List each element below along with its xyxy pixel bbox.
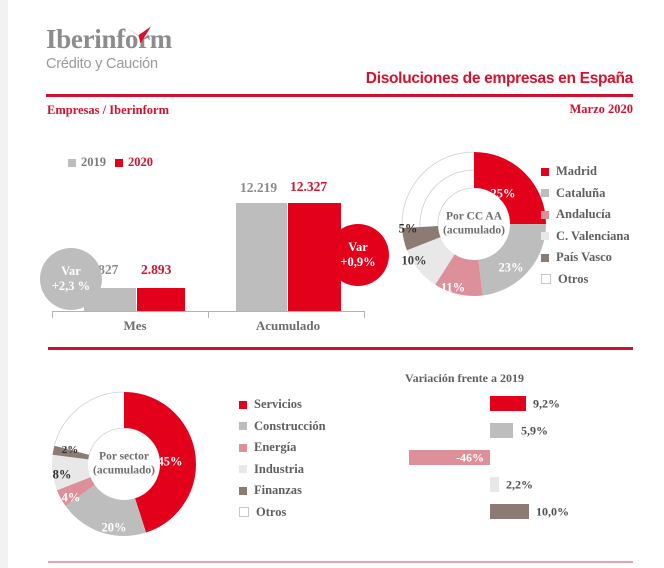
variation-badge-mes-line2: +2,3 % <box>52 279 90 294</box>
legend-label-otros-ccaa: Otros <box>558 272 588 287</box>
donut-ccaa-label-cataluna: 23% <box>499 261 524 276</box>
variation-bar-energia: -46% <box>409 450 490 465</box>
bar-value-mes-2020: 2.893 <box>141 262 171 278</box>
legend-label-cataluna: Cataluña <box>556 186 605 201</box>
category-label-mes: Mes <box>90 318 180 334</box>
legend-label-andalucia: Andalucía <box>556 207 611 222</box>
legend-item-otros-ccaa: Otros <box>541 273 630 286</box>
legend-swatch-otros-sector <box>239 507 249 517</box>
bar-value-acumulado-2019: 12.219 <box>240 180 277 196</box>
report-date: Marzo 2020 <box>569 102 633 117</box>
legend-label-c-valenciana: C. Valenciana <box>556 229 630 244</box>
legend-swatch-construccion <box>239 422 247 430</box>
legend-item-otros-sector: Otros <box>239 506 326 519</box>
donut-ccaa-label-madrid: 25% <box>491 187 516 202</box>
legend-item-cataluna: Cataluña <box>541 187 630 200</box>
page-title: Disoluciones de empresas en España <box>366 70 633 88</box>
donut-sector-label-finanzas: 2% <box>62 444 79 456</box>
donut-sector-center-line1: Por sector <box>93 450 155 464</box>
donut-sector-center-label: Por sector (acumulado) <box>93 450 155 479</box>
variation-value-construccion: 5,9% <box>521 424 548 439</box>
legend-swatch-madrid <box>541 168 549 176</box>
variation-badge-acumulado-line2: +0,9% <box>340 255 375 270</box>
legend-ccaa: Madrid Cataluña Andalucía C. Valenciana … <box>541 165 630 294</box>
legend-label-madrid: Madrid <box>556 164 597 179</box>
legend-swatch-finanzas <box>239 487 247 495</box>
legend-item-madrid: Madrid <box>541 165 630 178</box>
legend-item-servicios: Servicios <box>239 398 326 411</box>
donut-sector-label-industria: 8% <box>53 468 72 483</box>
infographic-page: Iberinform Crédito y Caución Disolucione… <box>0 0 664 568</box>
legend-swatch-c-valenciana <box>541 232 549 240</box>
legend-label-finanzas: Finanzas <box>254 483 302 498</box>
donut-ccaa-label-c-valenciana: 10% <box>402 254 427 269</box>
donut-ccaa-label-andalucia: 11% <box>441 281 465 296</box>
donut-sector-label-construccion: 20% <box>102 521 127 536</box>
variation-bar-servicios <box>490 396 526 411</box>
legend-label-construccion: Construcción <box>254 419 326 434</box>
legend-swatch-energia <box>239 444 247 452</box>
donut-sector-label-servicios: 45% <box>158 455 183 470</box>
axis-tick-start <box>52 312 53 318</box>
legend-swatch-cataluna <box>541 189 549 197</box>
donut-sector-label-energia: 4% <box>62 491 81 506</box>
legend-swatch-servicios <box>239 401 247 409</box>
legend-swatch-industria <box>239 465 247 473</box>
variation-value-servicios: 9,2% <box>533 397 560 412</box>
variation-badge-acumulado: Var +0,9% <box>327 224 389 286</box>
legend-swatch-andalucia <box>541 211 549 219</box>
variation-badge-acumulado-line1: Var <box>348 240 368 255</box>
variation-badge-mes: Var +2,3 % <box>40 248 102 310</box>
footer-divider <box>48 561 633 563</box>
axis-tick-end <box>364 312 365 318</box>
legend-label-pais-vasco: País Vasco <box>556 250 612 265</box>
legend-label-energia: Energía <box>254 440 296 455</box>
donut-sector-center-line2: (acumulado) <box>93 464 155 478</box>
donut-ccaa-center-line2: (acumulado) <box>443 224 505 238</box>
legend-item-c-valenciana: C. Valenciana <box>541 230 630 243</box>
variation-bar-finanzas <box>490 504 529 519</box>
donut-ccaa-center-line1: Por CC AA <box>443 210 505 224</box>
donut-chart-ccaa: Por CC AA (acumulado) 25% 23% 11% 10% 5% <box>398 148 550 300</box>
variation-value-finanzas: 10,0% <box>536 505 569 520</box>
donut-ccaa-center-label: Por CC AA (acumulado) <box>443 210 505 239</box>
legend-item-energia: Energía <box>239 441 326 454</box>
legend-label-otros-sector: Otros <box>256 505 286 520</box>
bar-acumulado-2019 <box>236 203 287 311</box>
legend-sector: Servicios Construcción Energía Industria… <box>239 398 326 527</box>
legend-item-finanzas: Finanzas <box>239 484 326 497</box>
legend-label-industria: Industria <box>254 462 304 477</box>
variation-chart-title: Variación frente a 2019 <box>405 371 524 386</box>
variation-value-energia: -46% <box>456 450 484 465</box>
legend-item-andalucia: Andalucía <box>541 208 630 221</box>
legend-item-construccion: Construcción <box>239 420 326 433</box>
variation-value-industria: 2,2% <box>506 478 533 493</box>
legend-label-servicios: Servicios <box>254 397 302 412</box>
variation-badge-mes-line1: Var <box>61 264 81 279</box>
category-label-acumulado: Acumulado <box>238 318 338 334</box>
section-divider <box>48 347 633 350</box>
bar-value-acumulado-2020: 12.327 <box>290 179 327 195</box>
donut-ccaa-label-pais-vasco: 5% <box>399 222 418 237</box>
variation-bar-construccion <box>490 423 513 438</box>
legend-swatch-pais-vasco <box>541 254 549 262</box>
bar-chart-plot: 2.827 2.893 12.219 12.327 Mes Acumulado … <box>0 0 400 340</box>
bar-mes-2020 <box>137 288 185 311</box>
donut-chart-sector: Por sector (acumulado) 45% 20% 4% 8% 2% <box>48 388 200 540</box>
legend-item-pais-vasco: País Vasco <box>541 251 630 264</box>
legend-item-industria: Industria <box>239 463 326 476</box>
axis-tick-mid <box>208 312 209 318</box>
variation-bar-industria <box>490 477 499 492</box>
legend-swatch-otros-ccaa <box>541 274 551 284</box>
